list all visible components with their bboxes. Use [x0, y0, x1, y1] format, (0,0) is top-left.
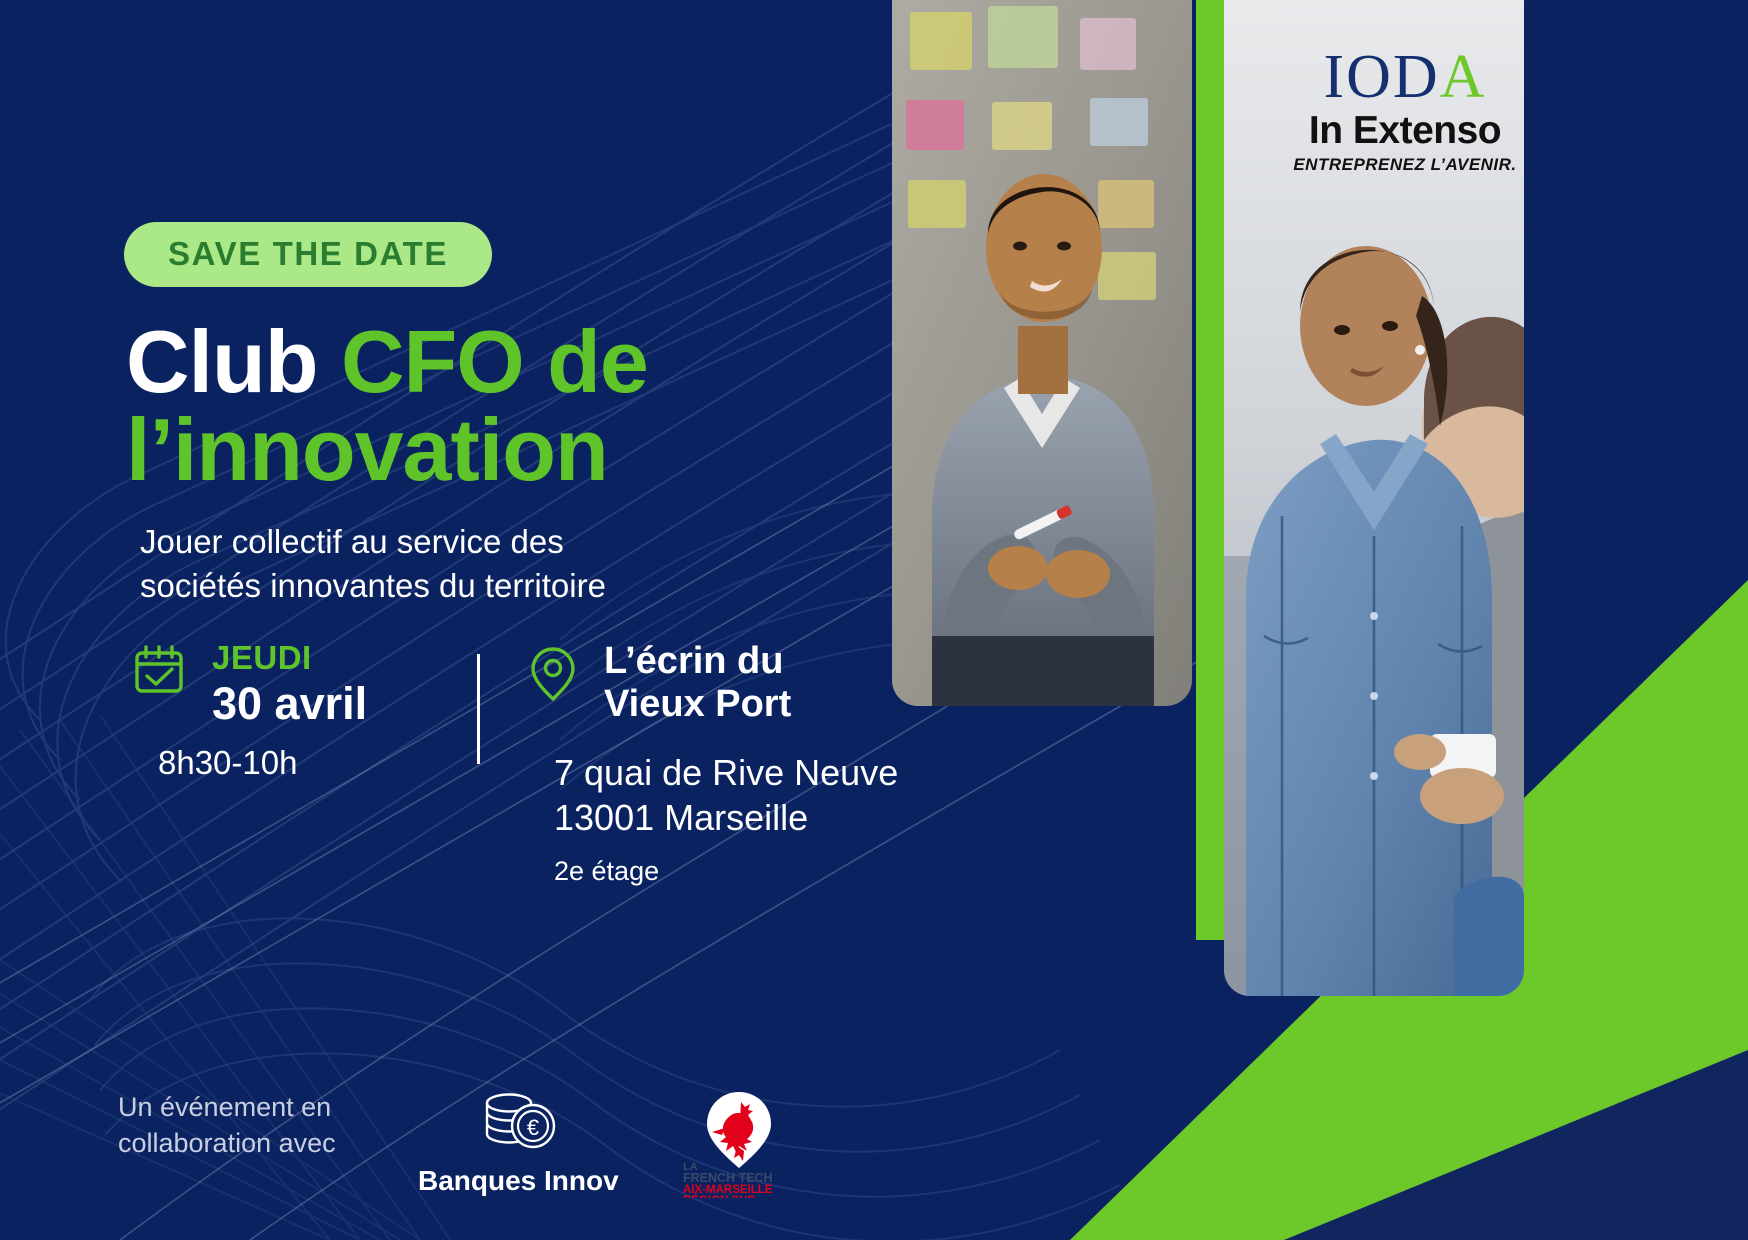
- venue-floor: 2e étage: [554, 856, 998, 887]
- venue-address: 7 quai de Rive Neuve 13001 Marseille: [554, 751, 998, 840]
- collaboration-line-1: Un événement en: [118, 1092, 331, 1122]
- collaboration-line-2: collaboration avec: [118, 1128, 336, 1158]
- venue-name-line-2: Vieux Port: [604, 683, 791, 726]
- subtitle-line-2: sociétés innovantes du territoire: [140, 567, 606, 604]
- poster-content: SAVE THE DATE Club CFO de l’innovation J…: [0, 0, 1010, 1240]
- in-extenso-wordmark: In Extenso: [1290, 110, 1520, 153]
- french-tech-rooster-icon: LA FRENCH TECH AIX-MARSEILLE RÉGION SUD: [667, 1090, 787, 1198]
- event-time: 8h30-10h: [158, 744, 477, 782]
- partners-footer: Un événement en collaboration avec € Ba: [118, 1090, 787, 1203]
- date-weekday: JEUDI: [212, 640, 367, 676]
- subtitle-line-1: Jouer collectif au service des: [140, 523, 564, 560]
- map-pin-icon: [528, 644, 578, 702]
- title-word-cfo-de: CFO de: [341, 312, 648, 411]
- partner-name-banques-innov: Banques Innov: [418, 1165, 619, 1197]
- address-line-1: 7 quai de Rive Neuve: [554, 752, 898, 793]
- collaboration-label: Un événement en collaboration avec: [118, 1090, 363, 1161]
- address-line-2: 13001 Marseille: [554, 797, 808, 838]
- ft-text-frenchtech: FRENCH TECH: [683, 1171, 773, 1185]
- partner-banques-innov: € Banques Innov: [418, 1090, 619, 1197]
- page-title: Club CFO de l’innovation: [126, 318, 906, 494]
- date-day: 30 avril: [212, 678, 367, 730]
- save-the-date-badge: SAVE THE DATE: [124, 222, 492, 287]
- ioda-green-a: A: [1440, 43, 1487, 111]
- venue-name-line-1: L’écrin du: [604, 640, 791, 683]
- title-word-club: Club: [126, 312, 341, 411]
- photo-man-speaking: [892, 0, 1192, 706]
- svg-text:€: €: [527, 1115, 539, 1140]
- ft-text-region: RÉGION SUD: [683, 1194, 756, 1198]
- ioda-wordmark: IODA: [1290, 46, 1520, 108]
- title-word-innovation: l’innovation: [126, 400, 608, 499]
- euro-coins-icon: €: [475, 1090, 561, 1161]
- date-block: JEUDI 30 avril 8h30-10h: [124, 640, 477, 887]
- poster-canvas: SAVE THE DATE Club CFO de l’innovation J…: [0, 0, 1748, 1240]
- brand-tagline: ENTREPRENEZ L’AVENIR.: [1290, 155, 1520, 175]
- page-subtitle: Jouer collectif au service des sociétés …: [140, 520, 760, 608]
- partner-french-tech: LA FRENCH TECH AIX-MARSEILLE RÉGION SUD: [667, 1090, 787, 1203]
- ioda-letters: IOD: [1324, 43, 1440, 111]
- calendar-check-icon: [132, 644, 186, 698]
- event-info-row: JEUDI 30 avril 8h30-10h: [124, 640, 1024, 887]
- brand-logo: IODA In Extenso ENTREPRENEZ L’AVENIR.: [1290, 46, 1520, 196]
